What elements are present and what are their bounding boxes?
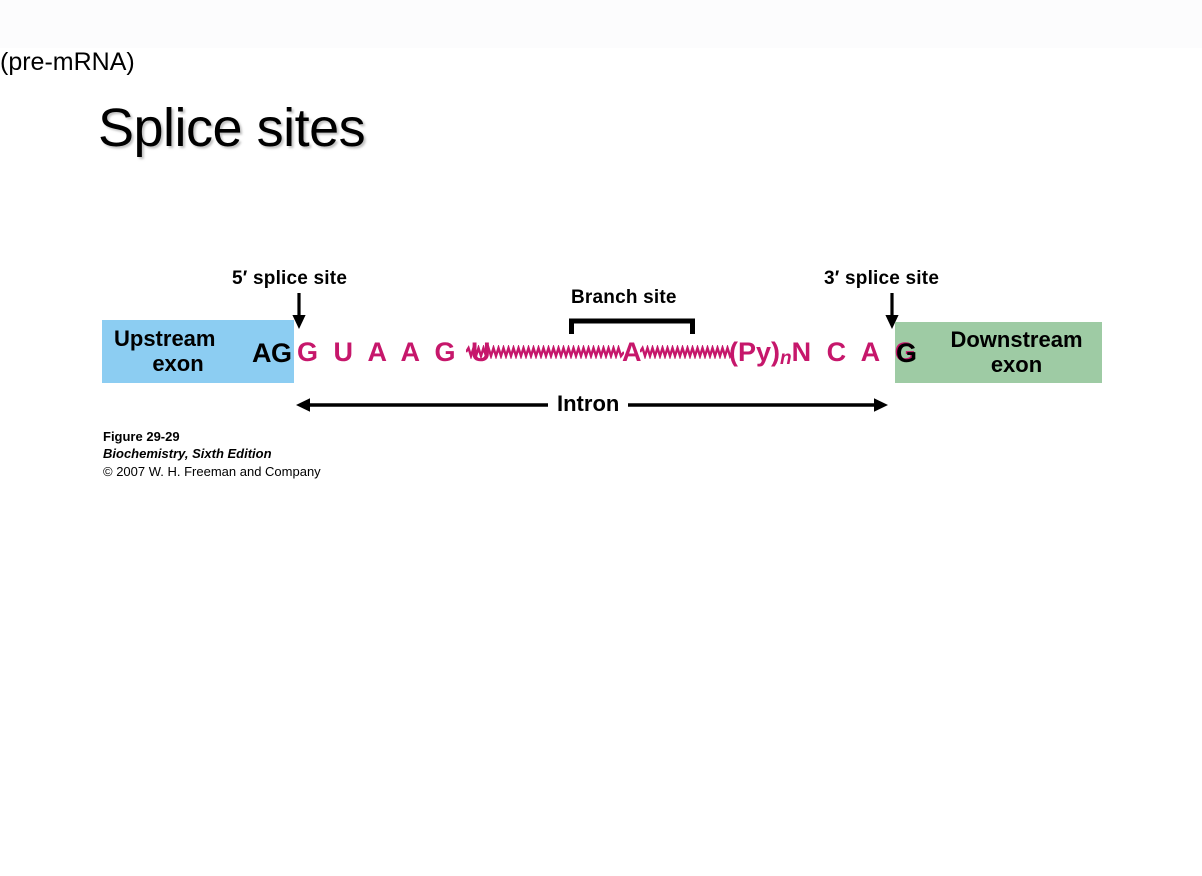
sequence-branch-adenosine: A — [622, 337, 642, 368]
credit-book-title: Biochemistry, Sixth Edition — [103, 445, 321, 462]
sequence-polypyrimidine-tract: (Py)nN C A G — [729, 337, 920, 370]
sequence-downstream-exon-start: G — [896, 338, 917, 369]
py-tract-text: (Py) — [729, 337, 780, 367]
sequence-upstream-exon-end: AG — [252, 338, 292, 369]
label-intron: Intron — [548, 391, 628, 417]
upstream-exon-label-line2: exon — [152, 352, 251, 377]
credit-figure-number: Figure 29-29 — [103, 428, 321, 445]
figure-credit-block: Figure 29-29 Biochemistry, Sixth Edition… — [103, 428, 321, 480]
downstream-exon-label-line2: exon — [991, 353, 1042, 378]
label-branch-site: Branch site — [571, 287, 677, 309]
squiggle-line-icon-left — [466, 345, 624, 359]
sequence-donor-site: G U A A G U — [297, 337, 495, 368]
squiggle-line-icon-right — [640, 345, 732, 359]
bracket-icon-branch-site — [569, 318, 695, 334]
downstream-exon-box: Downstream exon — [895, 322, 1102, 383]
label-three-prime-splice-site: 3′ splice site — [824, 268, 939, 290]
credit-copyright: © 2007 W. H. Freeman and Company — [103, 463, 321, 480]
py-tract-subscript: n — [780, 348, 792, 369]
upstream-exon-label-line1: Upstream — [110, 327, 215, 352]
splice-sites-figure: 5′ splice site 3′ splice site Branch sit… — [0, 0, 1202, 876]
downstream-exon-label-line1: Downstream — [950, 328, 1082, 353]
label-five-prime-splice-site: 5′ splice site — [232, 268, 347, 290]
